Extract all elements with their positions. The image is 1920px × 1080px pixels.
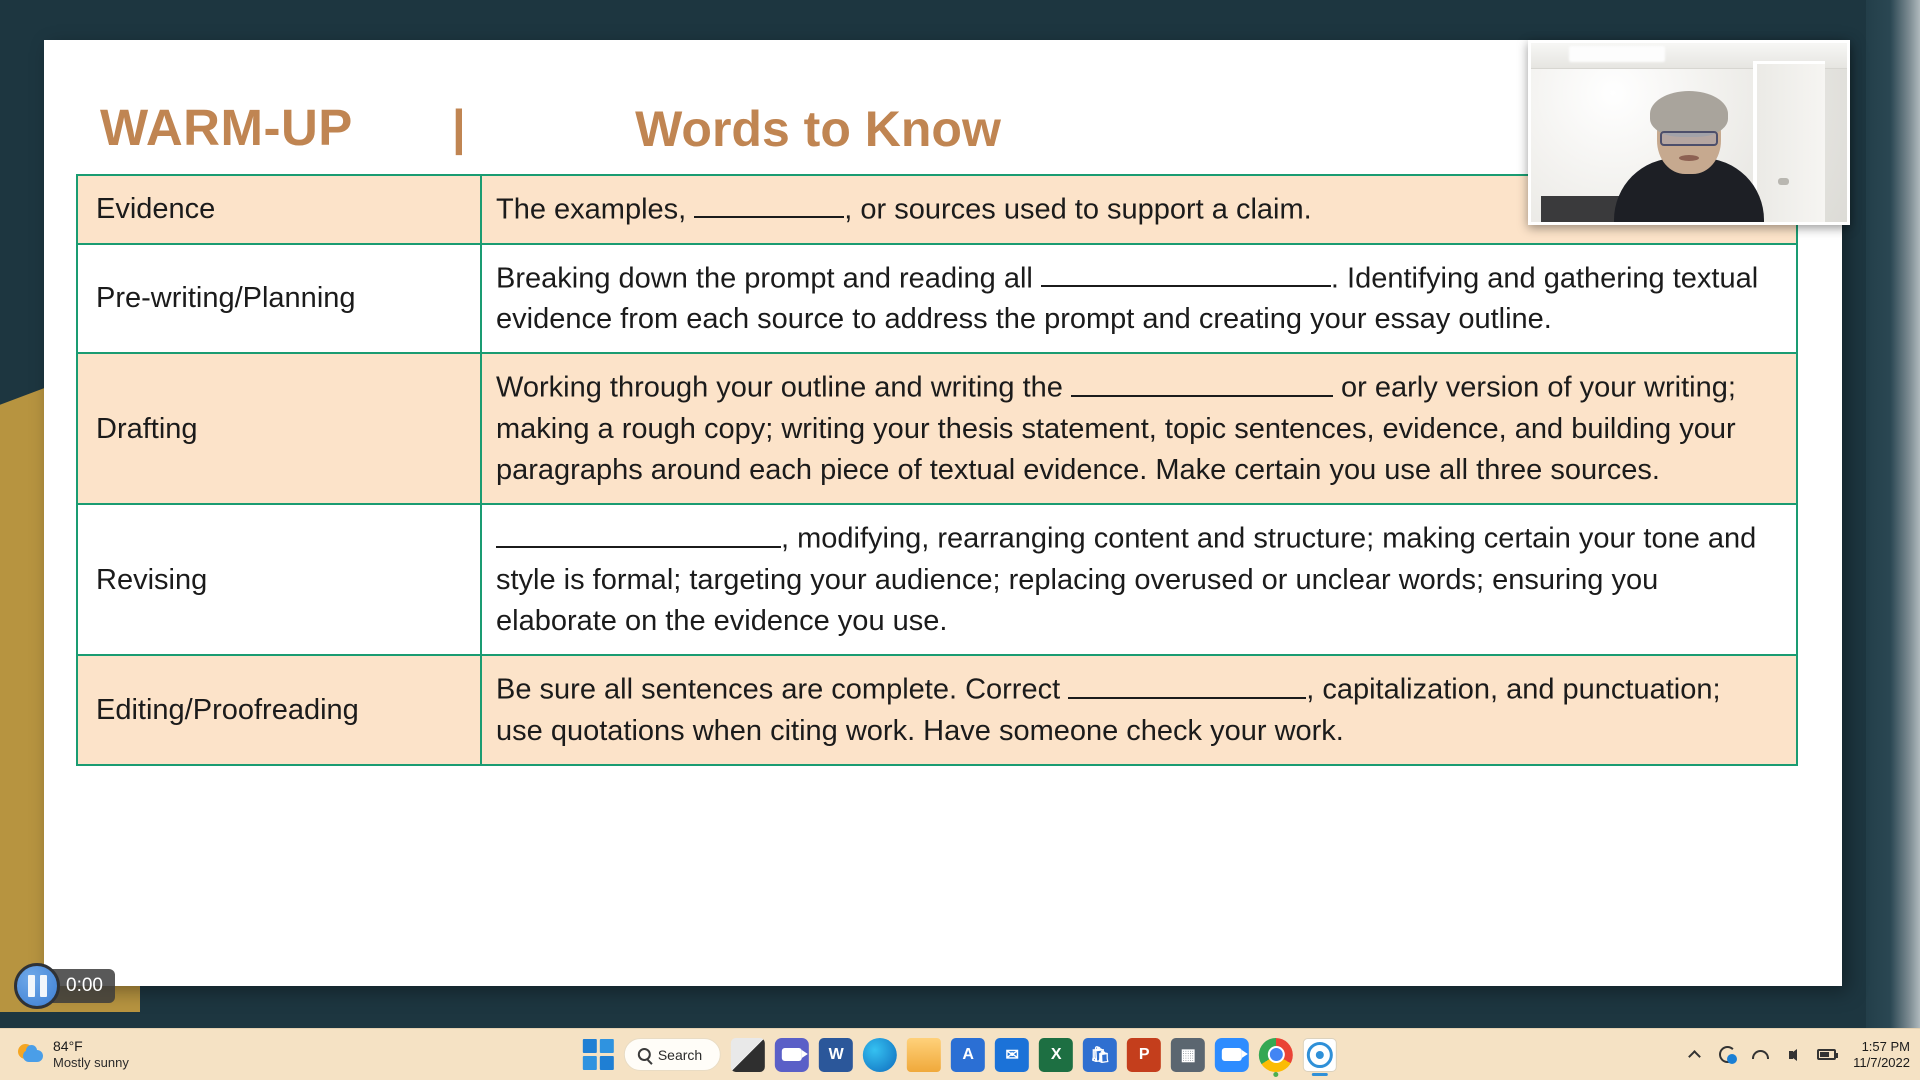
table-row: Editing/Proofreading Be sure all sentenc… [77,655,1797,765]
chrome-running-dot [1274,1072,1279,1077]
weather-condition: Mostly sunny [53,1055,129,1071]
zoom-camera-glyph [1222,1048,1242,1061]
mail-icon[interactable]: ✉ [995,1038,1029,1072]
fill-in-blank [694,188,844,218]
pause-bar-left [28,975,35,997]
definition-text-a: Breaking down the prompt and reading all [496,262,1041,294]
clock-widget[interactable]: 1:57 PM 11/7/2022 [1853,1039,1910,1070]
definition-text-b: , or sources used to support a claim. [844,193,1311,225]
recording-widget[interactable]: 0:00 [14,963,115,1009]
recorder-active-underline [1312,1073,1328,1076]
teams-icon[interactable] [775,1038,809,1072]
table-row: Drafting Working through your outline an… [77,353,1797,504]
start-tile-4 [600,1056,614,1070]
screen-recorder-icon[interactable] [1303,1038,1337,1072]
ceiling-light [1569,46,1665,62]
taskbar-app-strip[interactable]: Search W A ✉ X 🛍 P ▦ [583,1038,1337,1072]
wifi-icon[interactable] [1750,1045,1770,1065]
start-button-icon[interactable] [583,1039,614,1070]
pause-icon[interactable] [14,963,60,1009]
definition-text-a: The examples, [496,193,694,225]
presenter-webcam-overlay[interactable] [1528,40,1850,225]
show-hidden-icons-icon[interactable] [1684,1045,1704,1065]
term-cell: Revising [77,504,481,655]
windows-taskbar[interactable]: 84°F Mostly sunny Search W A ✉ X 🛍 P ▦ [0,1028,1920,1080]
battery-icon[interactable] [1816,1045,1836,1065]
definition-text-a: Working through your outline and writing… [496,372,1071,404]
fill-in-blank [496,517,781,547]
word-glyph: W [829,1046,844,1064]
battery-shape [1817,1049,1836,1060]
desktop: WARM-UP | Words to Know Evidence The exa… [0,0,1920,1080]
term-cell: Drafting [77,353,481,504]
weather-temperature: 84°F [53,1038,129,1055]
fill-in-blank [1068,668,1306,698]
start-tile-1 [583,1039,597,1053]
vocabulary-table: Evidence The examples, , or sources used… [76,174,1798,766]
webcam-door [1753,61,1825,225]
start-tile-3 [583,1056,597,1070]
powerpoint-glyph: P [1139,1046,1150,1064]
taskbar-search-box[interactable]: Search [624,1038,721,1071]
fill-in-blank [1041,257,1331,287]
system-tray[interactable]: 1:57 PM 11/7/2022 [1684,1039,1910,1070]
calculator-icon[interactable]: ▦ [1171,1038,1205,1072]
term-cell: Evidence [77,175,481,244]
pause-bar-right [40,975,47,997]
cloud-shape [23,1050,43,1062]
teams-camera-glyph [782,1048,802,1061]
term-cell: Pre-writing/Planning [77,244,481,354]
definition-cell: , modifying, rearranging content and str… [481,504,1797,655]
definition-cell: Be sure all sentences are complete. Corr… [481,655,1797,765]
door-knob-icon [1778,178,1789,185]
clock-time: 1:57 PM [1853,1039,1910,1055]
sync-arrows-icon [1719,1046,1736,1063]
acrobat-icon[interactable]: A [951,1038,985,1072]
speaker-shape [1789,1049,1797,1061]
clock-date: 11/7/2022 [1853,1055,1910,1071]
excel-glyph: X [1051,1046,1062,1064]
chrome-icon[interactable] [1259,1038,1293,1072]
powerpoint-icon[interactable]: P [1127,1038,1161,1072]
search-label: Search [658,1047,702,1063]
start-tile-2 [600,1039,614,1053]
presenter-mouth [1679,155,1699,161]
zoom-icon[interactable] [1215,1038,1249,1072]
word-icon[interactable]: W [819,1038,853,1072]
edge-icon[interactable] [863,1038,897,1072]
search-icon [638,1048,651,1061]
acrobat-glyph: A [962,1046,974,1064]
partly-sunny-icon [18,1043,44,1065]
weather-text: 84°F Mostly sunny [53,1038,129,1070]
chevron-up-icon [1688,1050,1701,1063]
wifi-arc-shape [1752,1050,1769,1059]
sync-badge [1727,1054,1737,1064]
table-row: Revising , modifying, rearranging conten… [77,504,1797,655]
definition-cell: Working through your outline and writing… [481,353,1797,504]
task-view-icon[interactable] [731,1038,765,1072]
deck-right-shadow [1866,0,1920,1046]
battery-fill [1820,1052,1829,1057]
term-cell: Editing/Proofreading [77,655,481,765]
volume-icon[interactable] [1783,1045,1803,1065]
definition-cell: Breaking down the prompt and reading all… [481,244,1797,354]
excel-icon[interactable]: X [1039,1038,1073,1072]
table-row: Pre-writing/Planning Breaking down the p… [77,244,1797,354]
definition-text-a: Be sure all sentences are complete. Corr… [496,674,1068,706]
weather-widget[interactable]: 84°F Mostly sunny [18,1038,248,1070]
glasses-icon [1660,131,1718,146]
fill-in-blank [1071,366,1333,396]
onedrive-sync-icon[interactable] [1717,1045,1737,1065]
microsoft-store-icon[interactable]: 🛍 [1083,1038,1117,1072]
file-explorer-icon[interactable] [907,1038,941,1072]
